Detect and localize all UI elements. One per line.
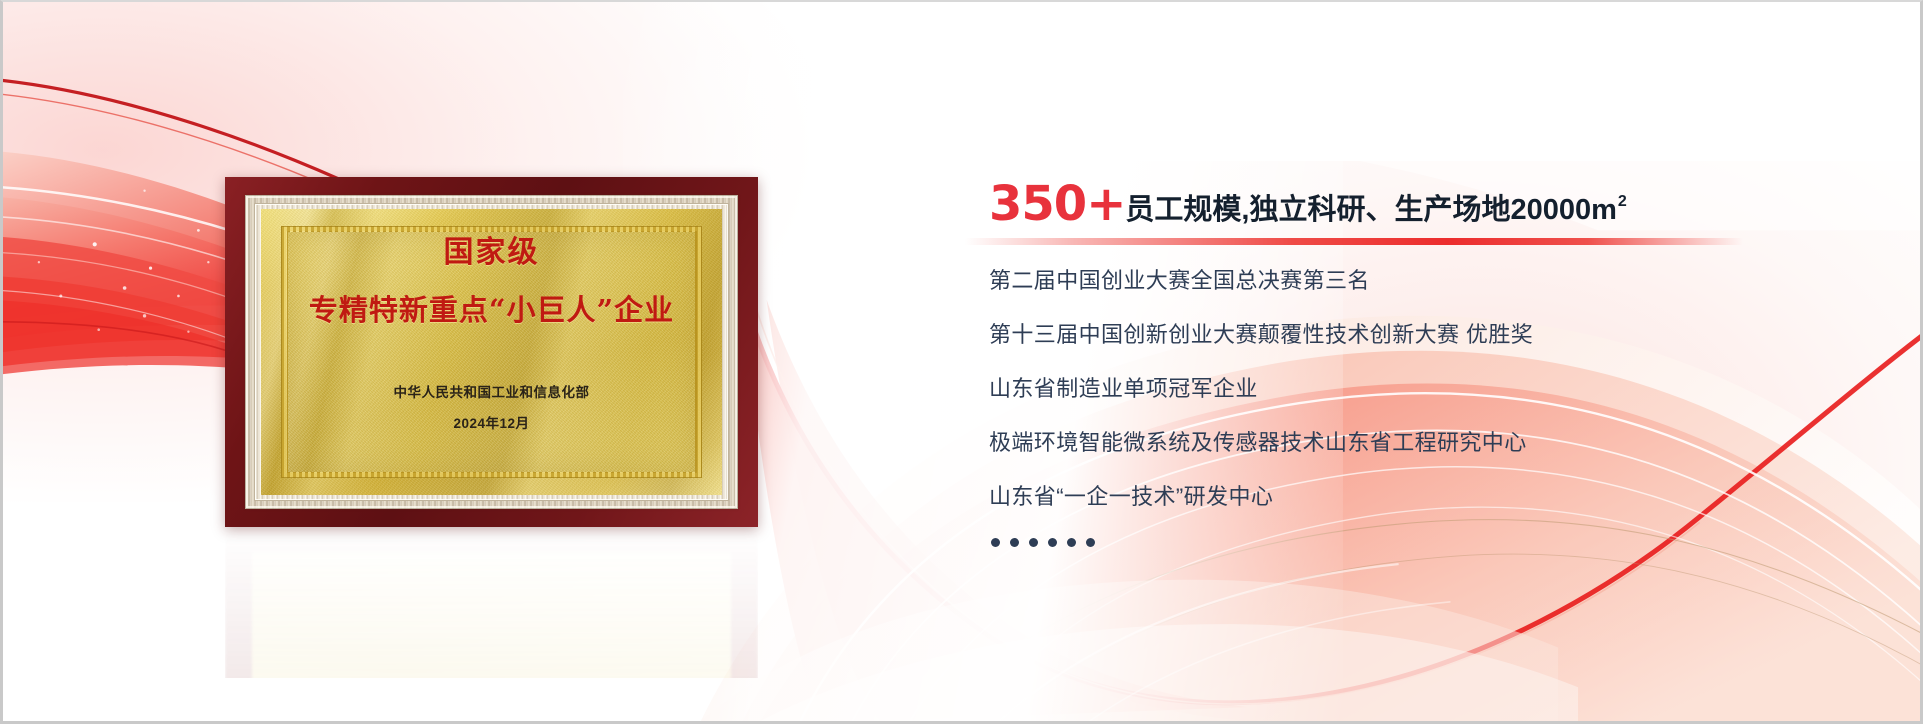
headline-superscript: 2: [1618, 193, 1627, 211]
award-plaque: 国家级 专精特新重点“小巨人”企业 中华人民共和国工业和信息化部 2024年12…: [225, 177, 758, 527]
plaque-title: 国家级: [444, 227, 540, 271]
plaque-text-group: 国家级 专精特新重点“小巨人”企业 中华人民共和国工业和信息化部 2024年12…: [225, 177, 758, 527]
headline-block: 350+ 员工规模,独立科研、生产场地20000m 2: [989, 180, 1819, 228]
ellipsis-dot: [991, 538, 1000, 547]
plaque-subtitle: 专精特新重点“小巨人”企业: [309, 287, 674, 329]
list-item: 极端环境智能微系统及传感器技术山东省工程研究中心: [989, 432, 1809, 454]
headline-text: 员工规模,独立科研、生产场地20000m: [1125, 196, 1617, 225]
promotional-banner: 国家级 专精特新重点“小巨人”企业 中华人民共和国工业和信息化部 2024年12…: [0, 0, 1923, 724]
ellipsis-dot: [1086, 538, 1095, 547]
award-list: 第二届中国创业大赛全国总决赛第三名 第十三届中国创新创业大赛颠覆性技术创新大赛 …: [989, 270, 1809, 540]
headline-underline-rule: [965, 238, 1743, 245]
list-item: 山东省制造业单项冠军企业: [989, 378, 1809, 400]
list-item: 山东省“一企一技术”研发中心: [989, 486, 1809, 508]
list-item: 第十三届中国创新创业大赛颠覆性技术创新大赛 优胜奖: [989, 324, 1809, 346]
ellipsis-dot: [1010, 538, 1019, 547]
plaque-issuer: 中华人民共和国工业和信息化部: [394, 381, 590, 401]
list-item: 第二届中国创业大赛全国总决赛第三名: [989, 270, 1809, 292]
ellipsis-dot: [1048, 538, 1057, 547]
ellipsis-dots: [991, 538, 1095, 547]
plaque-reflection: [225, 528, 758, 678]
headline-number: 350+: [989, 180, 1125, 228]
ellipsis-dot: [1067, 538, 1076, 547]
headline-row: 350+ 员工规模,独立科研、生产场地20000m 2: [989, 180, 1819, 228]
ellipsis-dot: [1029, 538, 1038, 547]
plaque-date: 2024年12月: [453, 412, 529, 432]
